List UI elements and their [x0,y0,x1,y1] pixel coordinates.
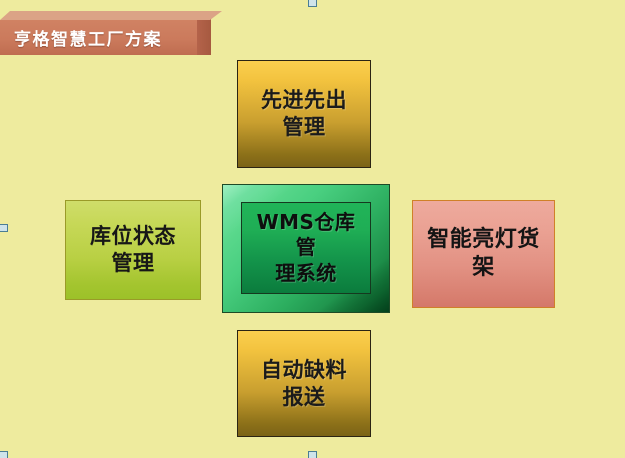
selection-handle-bottom[interactable] [308,451,317,458]
node-wms-core-system-label: WMS仓库管 理系统 [242,210,370,287]
node-smart-pick-to-light-rack[interactable]: 智能亮灯货 架 [412,200,555,308]
node-wms-core-system[interactable]: WMS仓库管 理系统 [222,184,390,313]
selection-handle-left[interactable] [0,224,8,232]
title-banner[interactable]: 亨格智慧工厂方案 [0,11,222,55]
node-location-status-management[interactable]: 库位状态 管理 [65,200,201,300]
selection-handle-bottom-left[interactable] [0,451,8,458]
title-banner-face: 亨格智慧工厂方案 [0,20,197,55]
title-banner-top-bevel [0,11,222,20]
selection-handle-top[interactable] [308,0,317,7]
diagram-canvas[interactable]: 亨格智慧工厂方案 先进先出 管理 库位状态 管理 WMS仓库管 理系统 智能亮灯… [0,0,625,458]
node-wms-inner-face: WMS仓库管 理系统 [241,202,371,294]
node-auto-shortage-report[interactable]: 自动缺料 报送 [237,330,371,437]
node-auto-shortage-report-label: 自动缺料 报送 [255,357,353,411]
node-location-status-management-label: 库位状态 管理 [84,223,182,277]
node-smart-pick-to-light-rack-label: 智能亮灯货 架 [421,226,546,282]
node-fifo-management[interactable]: 先进先出 管理 [237,60,371,168]
page-title: 亨格智慧工厂方案 [0,25,162,50]
node-fifo-management-label: 先进先出 管理 [255,87,353,141]
